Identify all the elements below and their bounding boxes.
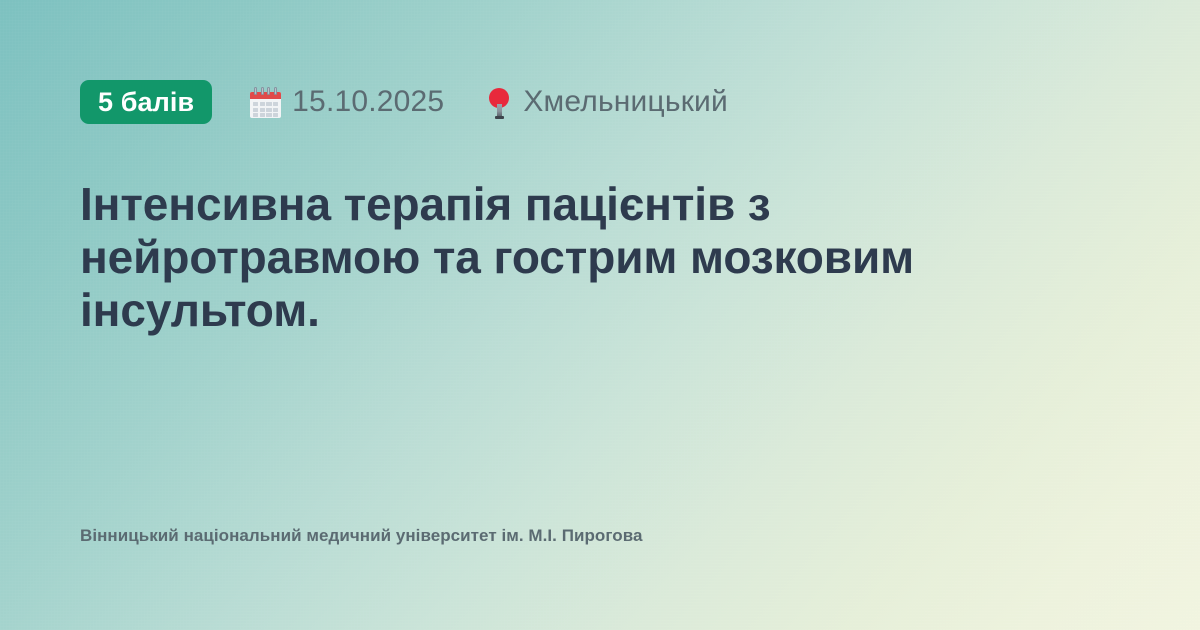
event-date: 15.10.2025 xyxy=(250,85,444,119)
event-location: Хмельницький xyxy=(488,85,728,119)
calendar-icon xyxy=(250,87,281,118)
card-content: 5 балів 15.10.2025 xyxy=(0,0,1200,630)
event-date-text: 15.10.2025 xyxy=(292,85,444,119)
event-promo-card: 5 балів 15.10.2025 xyxy=(0,0,1200,630)
event-location-text: Хмельницький xyxy=(523,85,728,119)
points-badge: 5 балів xyxy=(80,80,212,124)
event-title: Інтенсивна терапія пацієнтів з нейротрав… xyxy=(80,178,1120,337)
location-pin-icon xyxy=(488,87,510,119)
event-meta-row: 5 балів 15.10.2025 xyxy=(80,78,1120,126)
